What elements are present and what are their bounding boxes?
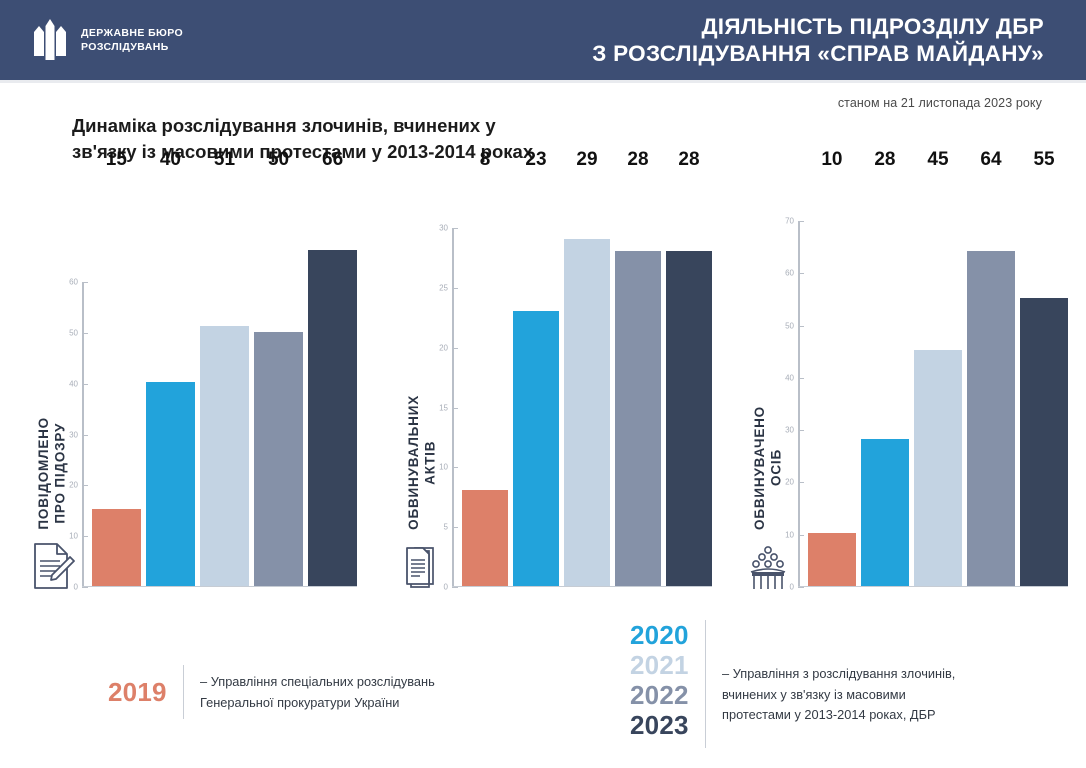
bar-2020[interactable]: 23: [513, 175, 559, 586]
y-axis-tick-label: 15: [439, 403, 448, 412]
bar-2020[interactable]: 28: [861, 175, 909, 586]
chart-axis-title-2: ОБВИНУВАЧЕНО ОСІБ: [752, 406, 785, 530]
legend-year-2023: 2023: [630, 710, 689, 740]
bar-rect[interactable]: 23: [513, 311, 559, 586]
legend-description-a: – Управління спеціальних розслідувань Ге…: [200, 670, 435, 713]
dbr-logo-text: ДЕРЖАВНЕ БЮРО РОЗСЛІДУВАНЬ: [81, 26, 183, 54]
y-axis-tick-label: 10: [69, 532, 78, 541]
x-axis-baseline: [452, 586, 712, 587]
legend-years-b: 2020 2021 2022 2023: [630, 620, 689, 741]
legend-year-2020: 2020: [630, 620, 689, 650]
y-axis-tick-label: 20: [69, 481, 78, 490]
header-divider: [0, 80, 1086, 83]
bar-chart-obvynuvalnykh-aktiv: ОБВИНУВАЛЬНИХ АКТІВ 05101520253082329282…: [392, 175, 712, 605]
y-axis-tick-label: 60: [69, 278, 78, 287]
legend-divider-b: [705, 620, 706, 748]
bar-2021[interactable]: 45: [914, 175, 962, 586]
y-axis-tick-label: 40: [69, 379, 78, 388]
y-axis-tick-label: 30: [69, 430, 78, 439]
bar-chart-obvynuvacheno-osib: ОБВИНУВАЧЕНО ОСІБ 0102030405060701028456…: [738, 175, 1068, 605]
bar-2019[interactable]: 15: [92, 175, 141, 586]
bar-value-label: 66: [322, 149, 343, 171]
x-axis-baseline: [798, 586, 1068, 587]
document-with-pen-icon: [29, 538, 75, 605]
bar-value-label: 8: [480, 149, 491, 171]
bar-rect[interactable]: 28: [666, 251, 712, 586]
bar-value-label: 40: [160, 149, 181, 171]
bar-rect[interactable]: 8: [462, 490, 508, 586]
y-axis-tick-label: 70: [785, 217, 794, 226]
page-header: ДЕРЖАВНЕ БЮРО РОЗСЛІДУВАНЬ ДІЯЛЬНІСТЬ ПІ…: [0, 0, 1086, 80]
y-axis-tick-label: 40: [785, 373, 794, 382]
bar-2021[interactable]: 51: [200, 175, 249, 586]
y-axis-tick-label: 5: [444, 523, 448, 532]
bar-value-label: 10: [821, 149, 842, 171]
bar-rect[interactable]: 28: [861, 439, 909, 585]
charts-container: ПОВІДОМЛЕНО ПРО ПІДОЗРУ 0102030405060154…: [0, 175, 1086, 605]
bar-2022[interactable]: 64: [967, 175, 1015, 586]
bar-2019[interactable]: 10: [808, 175, 856, 586]
stacked-documents-icon: [399, 538, 445, 605]
bar-group: 1540515066: [92, 175, 357, 586]
bar-chart-povidomleno-pro-pidozru: ПОВІДОМЛЕНО ПРО ПІДОЗРУ 0102030405060154…: [22, 175, 357, 605]
y-axis-tick-label: 20: [785, 478, 794, 487]
bar-value-label: 15: [106, 149, 127, 171]
chart-axis-title-0: ПОВІДОМЛЕНО ПРО ПІДОЗРУ: [36, 417, 69, 530]
y-axis-tick-label: 10: [785, 530, 794, 539]
bar-value-label: 28: [678, 149, 699, 171]
y-axis-line: [798, 221, 800, 587]
bar-value-label: 23: [525, 149, 546, 171]
legend-group-2019: 2019 – Управління спеціальних розслідува…: [108, 665, 435, 719]
bar-rect[interactable]: 28: [615, 251, 661, 586]
chart-side-2: ОБВИНУВАЧЕНО ОСІБ: [738, 175, 798, 605]
bar-value-label: 45: [927, 149, 948, 171]
legend-divider-a: [183, 665, 184, 719]
page-title: ДІЯЛЬНІСТЬ ПІДРОЗДІЛУ ДБР З РОЗСЛІДУВАНН…: [592, 13, 1044, 68]
legend-years-a: 2019: [108, 677, 167, 707]
y-axis-tick-label: 0: [444, 583, 448, 592]
bar-2023[interactable]: 66: [308, 175, 357, 586]
plot-area-2: 0102030405060701028456455: [798, 175, 1068, 605]
bar-value-label: 29: [576, 149, 597, 171]
dbr-pillars-logo-icon: [30, 16, 70, 64]
legend-description-b: – Управління з розслідування злочинів, в…: [722, 620, 955, 726]
legend-group-2020-2023: 2020 2021 2022 2023 – Управління з розсл…: [630, 620, 955, 748]
bar-rect[interactable]: 64: [967, 251, 1015, 586]
bar-value-label: 64: [980, 149, 1001, 171]
x-axis-baseline: [82, 586, 357, 587]
bar-2023[interactable]: 28: [666, 175, 712, 586]
bar-2023[interactable]: 55: [1020, 175, 1068, 586]
bar-rect[interactable]: 45: [914, 350, 962, 585]
bar-rect[interactable]: 29: [564, 239, 610, 586]
bar-rect[interactable]: 66: [308, 250, 357, 586]
bar-rect[interactable]: 51: [200, 326, 249, 585]
bar-2022[interactable]: 28: [615, 175, 661, 586]
bar-value-label: 55: [1033, 149, 1054, 171]
bar-rect[interactable]: 55: [1020, 298, 1068, 586]
chart-axis-title-1: ОБВИНУВАЛЬНИХ АКТІВ: [406, 395, 439, 530]
chart-side-1: ОБВИНУВАЛЬНИХ АКТІВ: [392, 175, 452, 605]
bar-2022[interactable]: 50: [254, 175, 303, 586]
y-axis-tick-label: 0: [74, 583, 78, 592]
bar-value-label: 28: [627, 149, 648, 171]
plot-area-1: 051015202530823292828: [452, 175, 712, 605]
bar-rect[interactable]: 50: [254, 332, 303, 586]
y-axis-tick-label: 10: [439, 463, 448, 472]
bar-rect[interactable]: 10: [808, 533, 856, 585]
bar-group: 823292828: [462, 175, 712, 586]
y-axis-tick-label: 30: [439, 224, 448, 233]
bar-value-label: 50: [268, 149, 289, 171]
y-axis-tick-label: 50: [69, 328, 78, 337]
dbr-logo: ДЕРЖАВНЕ БЮРО РОЗСЛІДУВАНЬ: [30, 16, 183, 64]
y-axis-tick-label: 50: [785, 321, 794, 330]
group-of-people-icon: [745, 538, 791, 605]
bar-rect[interactable]: 40: [146, 382, 195, 585]
legend-year-2022: 2022: [630, 680, 689, 710]
bar-2019[interactable]: 8: [462, 175, 508, 586]
bar-2021[interactable]: 29: [564, 175, 610, 586]
y-axis-tick-label: 60: [785, 269, 794, 278]
legend-year-2019: 2019: [108, 677, 167, 707]
bar-value-label: 28: [874, 149, 895, 171]
bar-value-label: 51: [214, 149, 235, 171]
legend-year-2021: 2021: [630, 650, 689, 680]
plot-area-0: 01020304050601540515066: [82, 175, 357, 605]
y-axis-tick-label: 0: [790, 583, 794, 592]
date-note: станом на 21 листопада 2023 року: [838, 96, 1042, 110]
bar-rect[interactable]: 15: [92, 509, 141, 585]
y-axis-tick-label: 20: [439, 343, 448, 352]
bar-2020[interactable]: 40: [146, 175, 195, 586]
y-axis-tick-label: 25: [439, 283, 448, 292]
bar-group: 1028456455: [808, 175, 1068, 586]
y-axis-tick-label: 30: [785, 426, 794, 435]
